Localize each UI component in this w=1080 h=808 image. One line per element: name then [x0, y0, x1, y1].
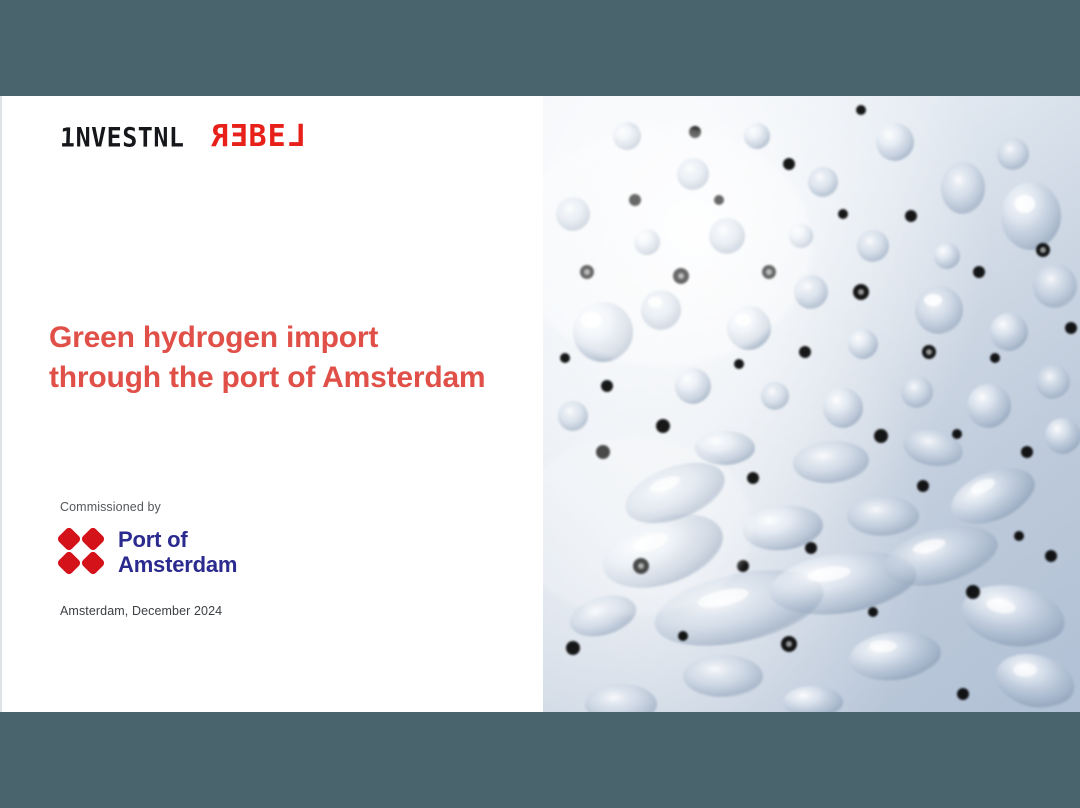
- invest-nl-logo-mark: 1: [60, 124, 76, 150]
- diamond-icon-top-right: [80, 527, 105, 552]
- page-title-line-2: through the port of Amsterdam: [49, 358, 529, 398]
- invest-nl-logo-text: NVESTNL: [76, 122, 185, 152]
- presentation-slide: 1NVESTNL REBEL Green hydrogen import thr…: [0, 96, 1080, 712]
- port-of-amsterdam-wordmark: Port of Amsterdam: [118, 527, 237, 578]
- diamond-icon-top-left: [56, 527, 81, 552]
- date-location-line: Amsterdam, December 2024: [60, 604, 222, 618]
- invest-nl-logo: 1NVESTNL: [60, 124, 184, 150]
- port-of-amsterdam-line-2: Amsterdam: [118, 552, 237, 577]
- water-bubbles-illustration: [543, 96, 1080, 712]
- diamond-icon-bottom-left: [56, 551, 81, 576]
- commissioned-block: Commissioned by Port of Amsterdam: [60, 500, 480, 578]
- rebel-logo-letter-e1: E: [229, 122, 248, 152]
- slide-left-column: 1NVESTNL REBEL Green hydrogen import thr…: [2, 96, 543, 712]
- port-of-amsterdam-diamonds-icon: [60, 530, 104, 574]
- commissioned-by-label: Commissioned by: [60, 500, 480, 514]
- page-title-line-1: Green hydrogen import: [49, 318, 529, 358]
- diamond-icon-bottom-right: [80, 551, 105, 576]
- water-bubbles-photo: [543, 96, 1080, 712]
- port-of-amsterdam-logo: Port of Amsterdam: [60, 527, 480, 578]
- logo-row: 1NVESTNL REBEL: [60, 122, 306, 152]
- rebel-logo-letter-e2: E: [268, 122, 287, 152]
- rebel-logo-letter-b: B: [249, 122, 268, 152]
- rebel-logo-letter-l: L: [287, 122, 306, 152]
- rebel-logo-letter-r: R: [210, 122, 229, 152]
- port-of-amsterdam-line-1: Port of: [118, 527, 237, 552]
- slide-viewer: 1NVESTNL REBEL Green hydrogen import thr…: [0, 0, 1080, 808]
- rebel-logo: REBEL: [210, 122, 305, 152]
- page-title: Green hydrogen import through the port o…: [49, 318, 529, 398]
